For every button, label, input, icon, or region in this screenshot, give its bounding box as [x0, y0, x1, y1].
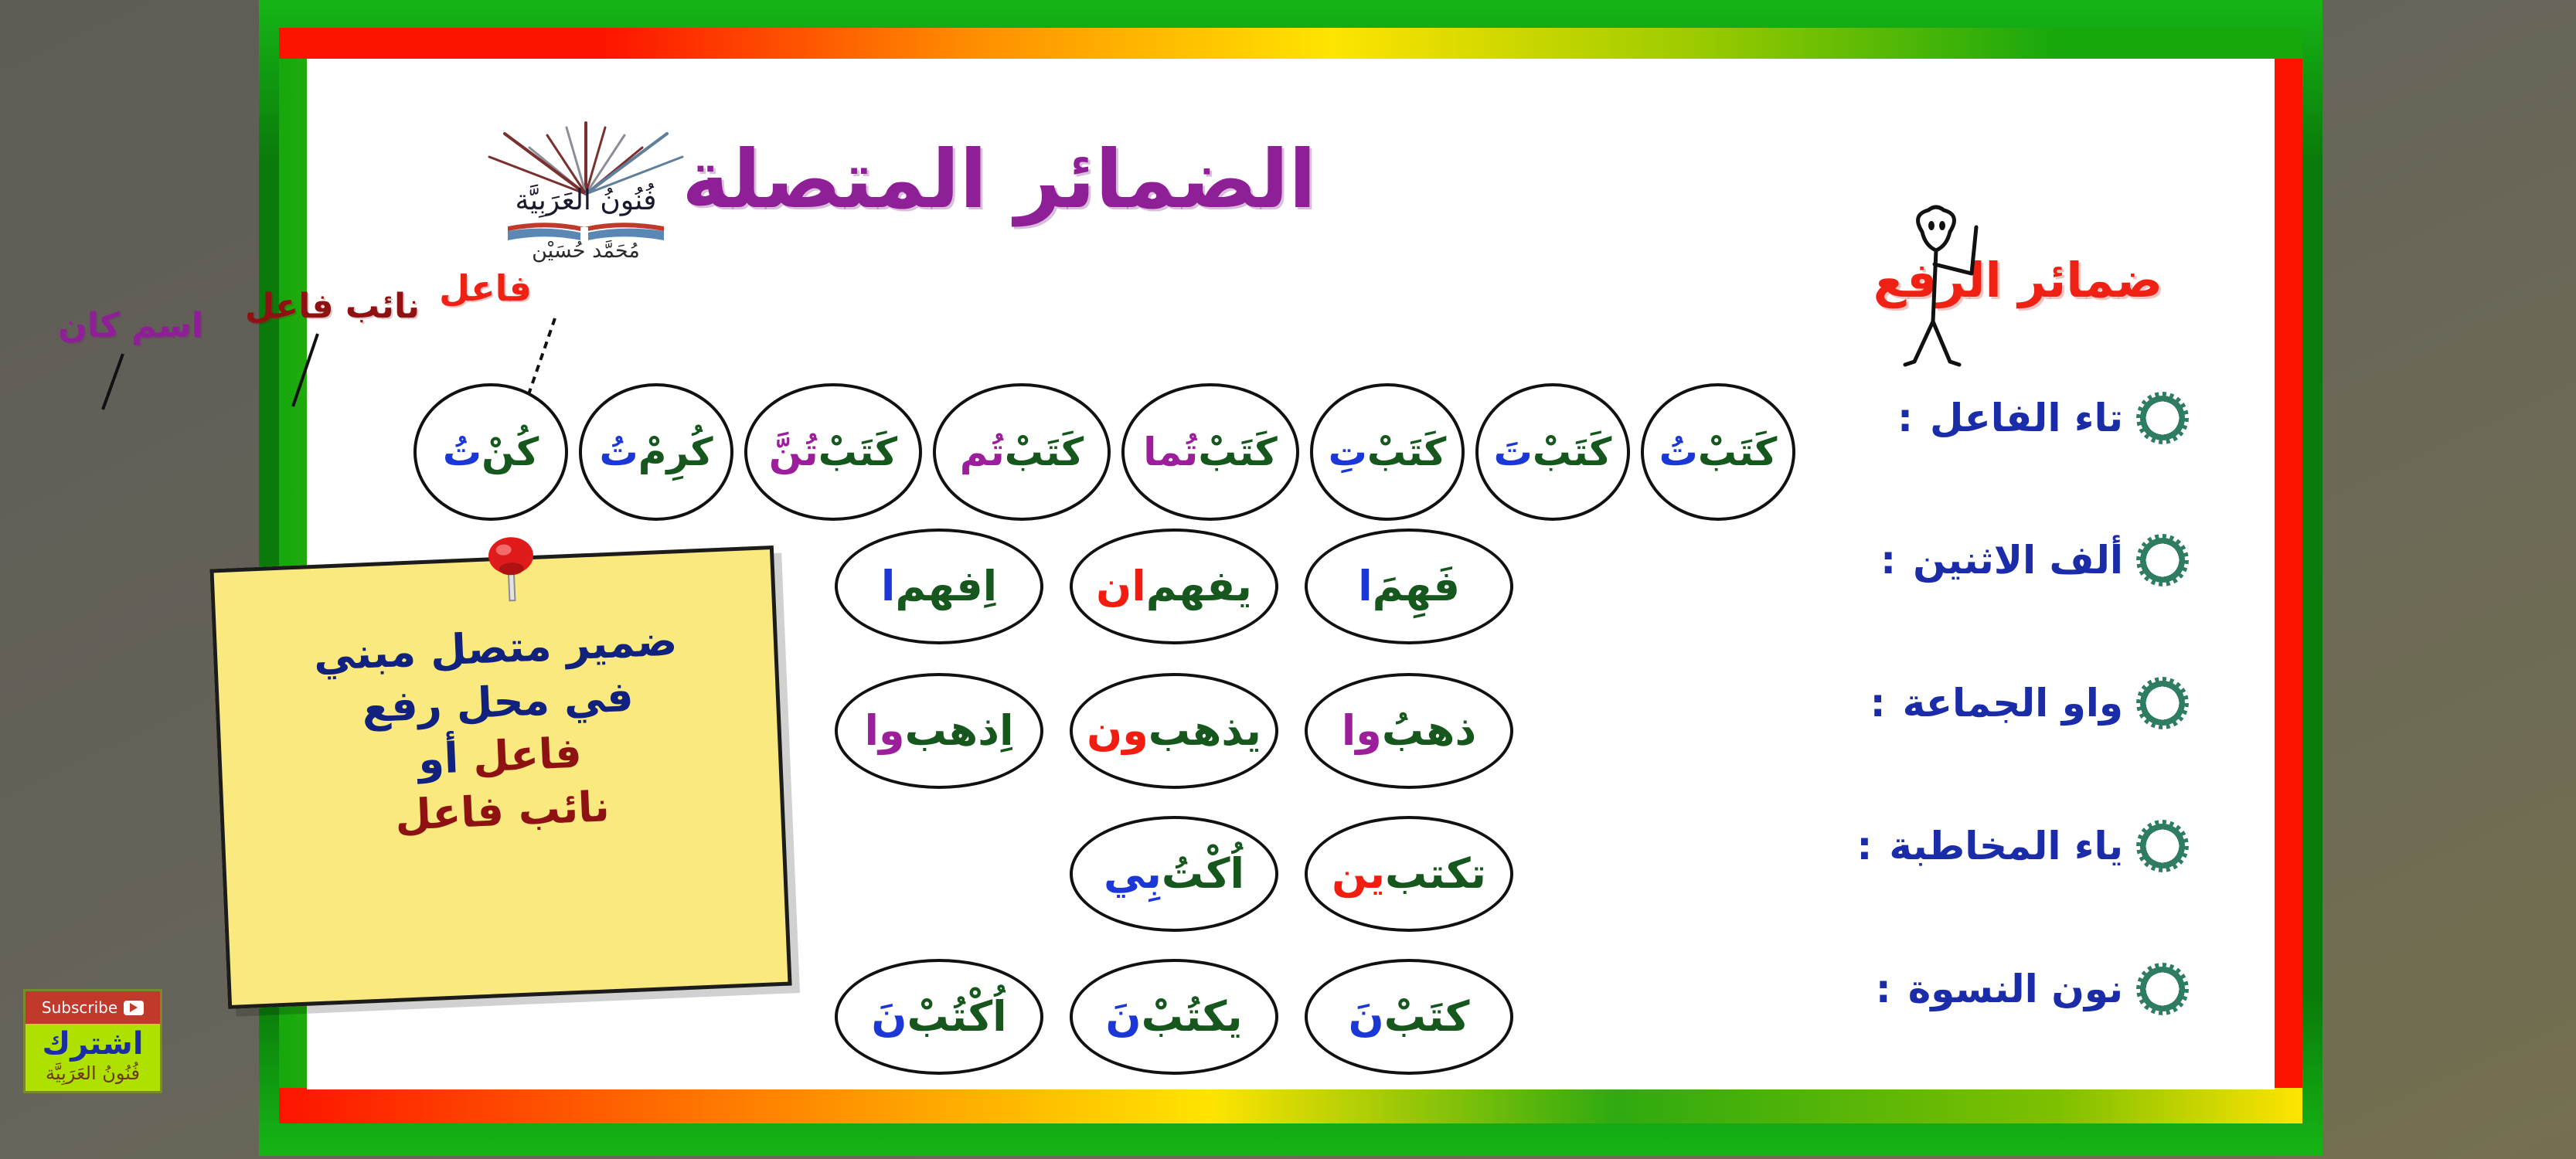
gear-bullet-icon [2140, 824, 2185, 868]
subscribe-brand-label: فُنُونُ العَرَبِيَّة [26, 1062, 160, 1084]
example-pronoun: تُما [1143, 433, 1198, 471]
example-pronoun: تُم [960, 433, 1005, 471]
example-stem: اُكْتُ [1162, 853, 1244, 895]
subscribe-bar[interactable]: Subscribe [26, 991, 160, 1024]
example-stem: يذهب [1148, 710, 1261, 752]
example-pronoun: تَ [1494, 433, 1533, 471]
row-label-colon: : [1880, 538, 1896, 583]
example-pronoun: ا [881, 566, 896, 607]
subscribe-label: Subscribe [42, 998, 117, 1017]
callout-ism-kana: اسم كان [58, 306, 203, 345]
pushpin-icon [477, 531, 546, 605]
callout-naib-fail-label: نائب فاعل [245, 287, 420, 326]
callout-naib-leader-line [265, 331, 335, 412]
gear-bullet-icon [2140, 396, 2185, 440]
callout-fail-label: فاعل [439, 267, 532, 309]
callout-naib-fail: نائب فاعل [245, 287, 420, 326]
example-pronoun: بِي [1104, 853, 1162, 895]
page-title: الضمائر المتصلة [682, 132, 1316, 226]
example-pronoun: وا [1342, 710, 1382, 752]
examples-row-yaa-almukhataba: تكتبين اُكْتُبِي [1043, 816, 1513, 932]
example-oval[interactable]: كَتَبْتُما [1121, 383, 1299, 521]
example-oval[interactable]: كُنْتُ [413, 383, 568, 521]
example-oval[interactable]: كتَبْنَ [1305, 959, 1513, 1075]
examples-row-nun-alniswa: كتَبْنَ يكتُبْنَ اُكْتُبْنَ [808, 959, 1513, 1075]
example-stem: كَتَبْ [1698, 433, 1777, 471]
slide-outer-frame: فُنُونُ العَرَبِيَّة مُحَمَّد حُسَيْن ال… [259, 0, 2322, 1156]
row-label-text: نون النسوة [1908, 967, 2123, 1011]
example-stem: ذهبُ [1382, 710, 1476, 752]
example-pronoun: ون [1087, 710, 1148, 752]
example-stem: كُنْ [482, 433, 539, 471]
example-stem: يكتُبْ [1142, 996, 1243, 1038]
example-oval[interactable]: تكتبين [1305, 816, 1513, 932]
example-pronoun: تُ [443, 433, 482, 471]
row-label-alif-alithnain: ألف الاثنين : [1880, 538, 2185, 583]
slide-rainbow-frame: فُنُونُ العَرَبِيَّة مُحَمَّد حُسَيْن ال… [279, 28, 2302, 1123]
row-label-colon: : [1856, 824, 1872, 868]
sticky-note: ضمير متصل مبني في محل رفع فاعل أو نائب ف… [209, 546, 791, 1009]
row-label-waw-aljamaa: واو الجماعة : [1870, 681, 2185, 726]
play-icon [124, 1001, 144, 1015]
example-oval[interactable]: كَتَبْتِ [1310, 383, 1465, 521]
callout-ism-kana-leader-line [72, 351, 141, 414]
brand-logo: فُنُونُ العَرَبِيَّة مُحَمَّد حُسَيْن [458, 117, 713, 271]
example-oval[interactable]: اُكْتُبْنَ [835, 959, 1043, 1075]
examples-row-alif-alithnain: فَهِمَا يفهمان اِفهما [808, 529, 1513, 644]
example-stem: كَتَبْ [1533, 433, 1611, 471]
examples-row-waw-aljamaa: ذهبُوا يذهبون اِذهبوا [808, 673, 1513, 789]
row-label-taa-alfail: تاء الفاعل : [1897, 396, 2185, 440]
gear-bullet-icon [2140, 538, 2185, 583]
example-stem: اِذهب [905, 710, 1014, 752]
example-stem: تكتب [1385, 853, 1486, 895]
example-oval[interactable]: كَتَبْتُم [933, 383, 1111, 521]
example-stem: كَتَبْ [1005, 433, 1084, 471]
example-oval[interactable]: يكتُبْنَ [1070, 959, 1278, 1075]
row-label-colon: : [1870, 681, 1886, 726]
subscribe-badge[interactable]: Subscribe اشترك فُنُونُ العَرَبِيَّة [23, 989, 162, 1093]
callout-ism-kana-label: اسم كان [58, 306, 203, 345]
example-oval[interactable]: اِفهما [835, 529, 1043, 644]
row-label-colon: : [1876, 967, 1891, 1011]
example-pronoun: تِ [1329, 433, 1367, 471]
row-label-text: واو الجماعة [1903, 681, 2123, 726]
callout-fail: فاعل [439, 267, 532, 309]
example-pronoun: نَ [1106, 996, 1142, 1038]
logo-name: فُنُونُ العَرَبِيَّة [458, 185, 713, 216]
example-oval[interactable]: كَتَبْتُ [1641, 383, 1795, 521]
example-pronoun: ين [1332, 853, 1385, 895]
example-stem: فَهِمَ [1373, 566, 1460, 607]
example-oval[interactable]: اُكْتُبِي [1070, 816, 1278, 932]
example-oval[interactable]: فَهِمَا [1305, 529, 1513, 644]
row-label-nun-alniswa: نون النسوة : [1876, 967, 2185, 1011]
logo-author: مُحَمَّد حُسَيْن [458, 239, 713, 263]
example-pronoun: تُنَّ [769, 433, 818, 471]
row-label-yaa-almukhataba: ياء المخاطبة : [1856, 824, 2185, 868]
row-label-text: ياء المخاطبة [1889, 824, 2123, 868]
example-stem: كتَبْ [1384, 996, 1470, 1038]
example-stem: يفهم [1146, 566, 1252, 607]
example-stem: كَتَبْ [1367, 433, 1446, 471]
example-oval[interactable]: ذهبُوا [1305, 673, 1513, 789]
slide-canvas: فُنُونُ العَرَبِيَّة مُحَمَّد حُسَيْن ال… [307, 59, 2275, 1089]
examples-row-taa-alfail: كَتَبْتُ كَتَبْتَ كَتَبْتِ كَتَبْتُما كَ… [403, 383, 1795, 521]
gear-bullet-icon [2140, 681, 2185, 726]
example-oval[interactable]: كَتَبْتُنَّ [744, 383, 922, 521]
row-label-text: ألف الاثنين [1913, 538, 2123, 583]
example-pronoun: نَ [871, 996, 907, 1038]
example-oval[interactable]: اِذهبوا [835, 673, 1043, 789]
example-oval[interactable]: كَتَبْتَ [1475, 383, 1630, 521]
stick-figure-icon [1888, 198, 2012, 376]
example-stem: اُكْتُبْ [907, 996, 1006, 1038]
example-pronoun: نَ [1349, 996, 1384, 1038]
example-oval[interactable]: يذهبون [1070, 673, 1278, 789]
example-stem: كُرِمْ [638, 433, 713, 471]
example-oval[interactable]: كُرِمْتُ [579, 383, 733, 521]
row-label-text: تاء الفاعل [1930, 396, 2123, 440]
example-pronoun: تُ [599, 433, 638, 471]
sticky-note-line3-or: أو [417, 734, 460, 784]
example-stem: اِفهم [895, 566, 997, 607]
example-oval[interactable]: يفهمان [1070, 529, 1278, 644]
example-pronoun: ا [1358, 566, 1373, 607]
sticky-note-line3-a: فاعل [472, 729, 583, 782]
example-stem: كَتَبْ [818, 433, 897, 471]
example-pronoun: ان [1096, 566, 1146, 607]
gear-bullet-icon [2140, 967, 2185, 1011]
subscribe-arabic-label: اشترك [26, 1028, 160, 1059]
example-pronoun: تُ [1659, 433, 1698, 471]
row-label-colon: : [1897, 396, 1913, 440]
example-pronoun: وا [865, 710, 905, 752]
example-stem: كَتَبْ [1198, 433, 1277, 471]
